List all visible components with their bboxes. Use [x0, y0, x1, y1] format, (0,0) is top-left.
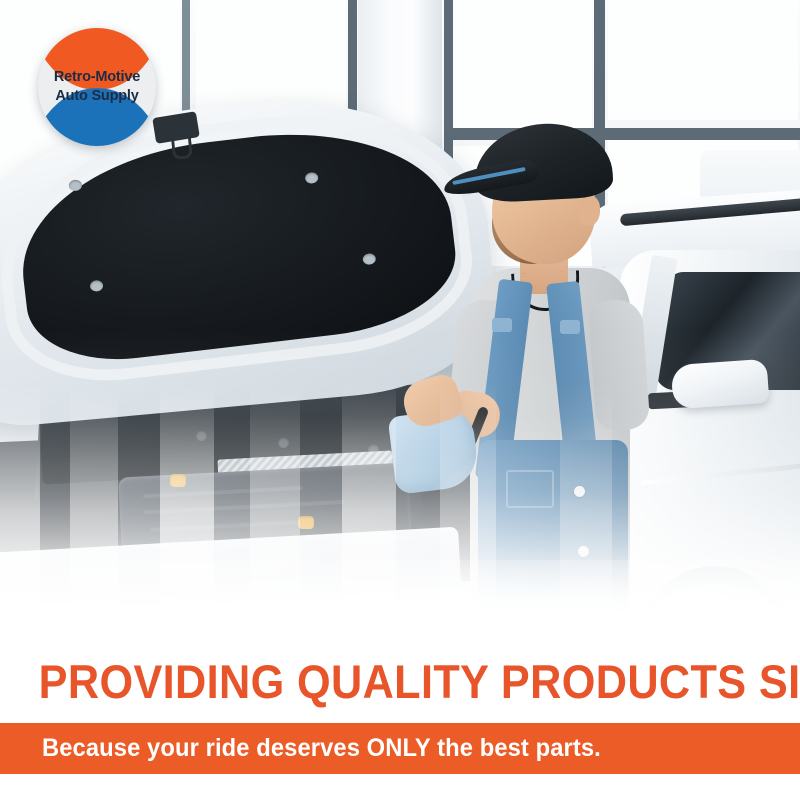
engine-cover-rib-2 [144, 500, 344, 514]
advertisement-banner: Retro-Motive Auto Supply PROVIDING QUALI… [0, 0, 800, 800]
hood-safety-hook [171, 135, 193, 160]
overall-button-1 [574, 486, 585, 497]
engine-dipstick-handle [298, 516, 314, 529]
suv-side-mirror [671, 359, 770, 410]
window-pane-right-2 [608, 0, 798, 120]
overall-strap-clip-left [492, 318, 512, 332]
window-pane-right-1 [452, 0, 592, 128]
cowl-bolt-1 [196, 430, 207, 441]
logo-line-2: Auto Supply [55, 88, 138, 105]
overall-bib-pocket [506, 470, 554, 508]
window-mullion-horizontal-1 [444, 128, 800, 140]
engine-oil-cap [170, 474, 186, 487]
mechanic-ear [578, 196, 600, 226]
brand-logo[interactable]: Retro-Motive Auto Supply [38, 28, 156, 146]
overall-button-2 [578, 546, 589, 557]
mechanic-right-sleeve [588, 298, 651, 431]
engine-cover-rib-1 [143, 486, 303, 498]
subheadline-bar: Because your ride deserves ONLY the best… [0, 723, 800, 774]
overall-strap-clip-right [560, 320, 580, 334]
cowl-bolt-2 [278, 437, 289, 448]
subheadline-text: Because your ride deserves ONLY the best… [42, 734, 601, 763]
logo-wordmark: Retro-Motive Auto Supply [38, 28, 156, 146]
engine-cover-rib-3 [151, 520, 301, 532]
logo-line-1: Retro-Motive [54, 69, 140, 86]
headline: PROVIDING QUALITY PRODUCTS SINCE 2012 [0, 640, 736, 722]
